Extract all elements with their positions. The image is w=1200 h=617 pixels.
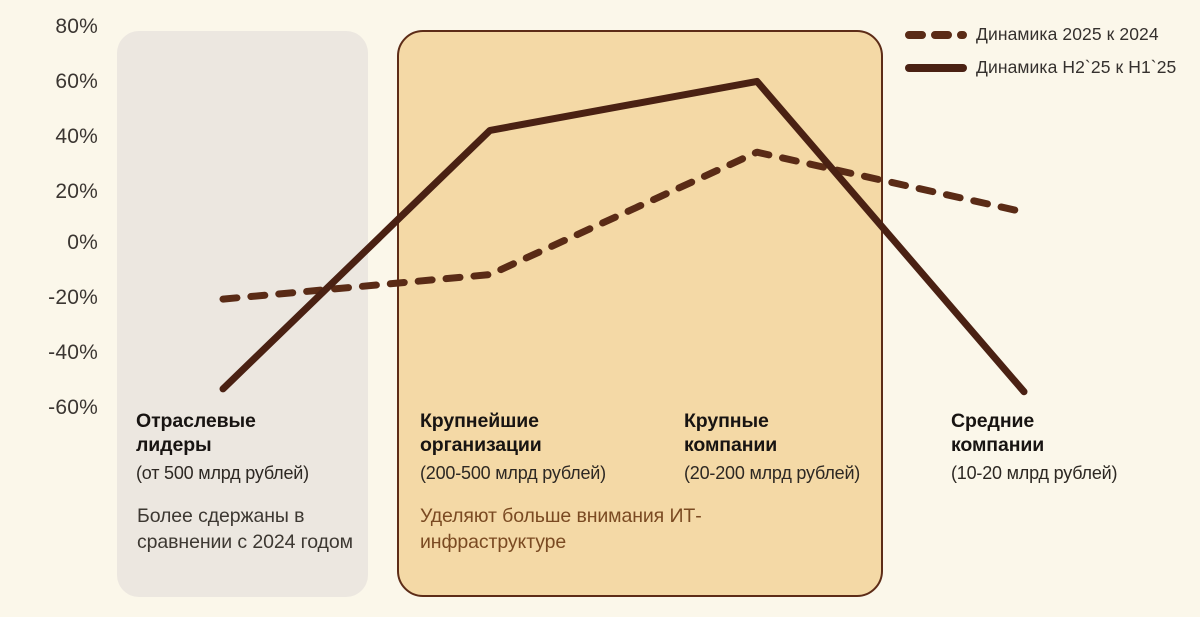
- category-title: Крупные компании: [684, 409, 904, 457]
- legend-item-1[interactable]: Динамика H2`25 к H1`25: [905, 53, 1195, 82]
- legend-dashed-line-icon: [905, 30, 967, 40]
- chart-canvas: 80% 60% 40% 20% 0% -20% -40% -60% Динами…: [0, 0, 1200, 617]
- category-title: Крупнейшие организации: [420, 409, 670, 457]
- category-title-line1: Отраслевые: [136, 410, 256, 432]
- category-title-line2: лидеры: [136, 434, 212, 456]
- category-title: Отраслевые лидеры: [136, 409, 376, 457]
- category-title-line2: компании: [684, 434, 777, 456]
- category-title-line1: Крупные: [684, 410, 769, 432]
- category-medium-companies: Средние компании (10-20 млрд рублей): [951, 409, 1181, 485]
- category-title-line1: Средние: [951, 410, 1034, 432]
- legend-item-0[interactable]: Динамика 2025 к 2024: [905, 20, 1195, 49]
- category-large-companies: Крупные компании (20-200 млрд рублей): [684, 409, 904, 485]
- legend-label-1: Динамика H2`25 к H1`25: [976, 57, 1176, 78]
- category-title-line2: компании: [951, 434, 1044, 456]
- category-range: (20-200 млрд рублей): [684, 461, 904, 485]
- category-range: (10-20 млрд рублей): [951, 461, 1181, 485]
- legend: Динамика 2025 к 2024 Динамика H2`25 к H1…: [905, 20, 1195, 86]
- category-title-line2: организации: [420, 434, 542, 456]
- legend-label-0: Динамика 2025 к 2024: [976, 24, 1159, 45]
- category-title-line1: Крупнейшие: [420, 410, 539, 432]
- category-range: (от 500 млрд рублей): [136, 461, 376, 485]
- category-title: Средние компании: [951, 409, 1181, 457]
- note-industry-leaders: Более сдержаны в сравнении с 2024 годом: [137, 503, 357, 555]
- category-range: (200-500 млрд рублей): [420, 461, 670, 485]
- series-line-h2-vs-h1: [223, 81, 1024, 391]
- note-it-infrastructure: Уделяют больше внимания ИТ-инфраструктур…: [420, 503, 840, 555]
- legend-solid-line-icon: [905, 63, 967, 73]
- category-industry-leaders: Отраслевые лидеры (от 500 млрд рублей): [136, 409, 376, 485]
- category-largest-organizations: Крупнейшие организации (200-500 млрд руб…: [420, 409, 670, 485]
